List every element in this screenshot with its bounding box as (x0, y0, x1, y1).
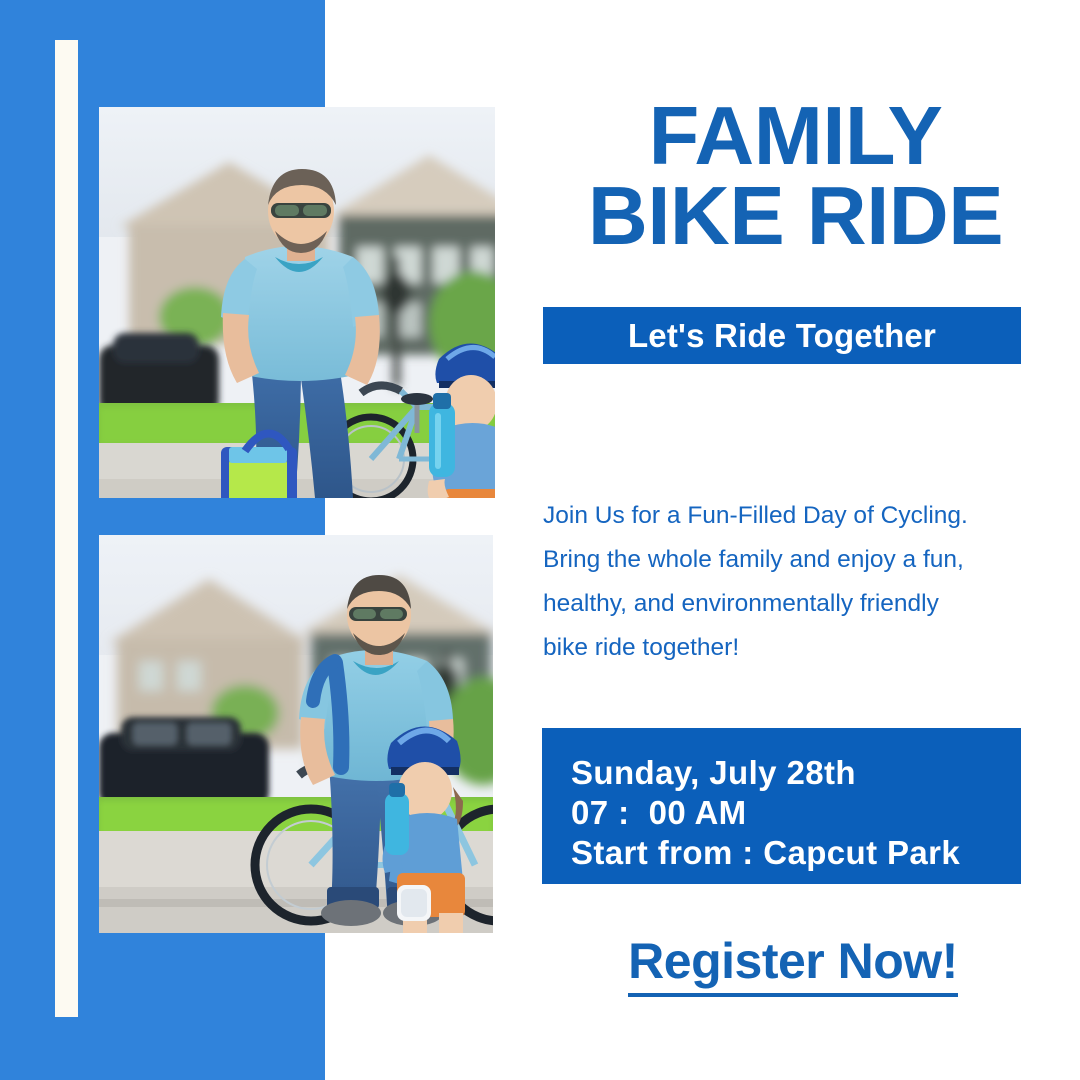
tagline-text: Let's Ride Together (628, 317, 936, 355)
photo-father-and-child-with-bike (99, 107, 495, 498)
tagline-banner: Let's Ride Together (543, 307, 1021, 364)
page-title: FAMILY BIKE RIDE (543, 96, 1048, 255)
photo-2-illustration (99, 535, 493, 933)
cream-accent-stripe (55, 40, 78, 1017)
content-column: FAMILY BIKE RIDE Let's Ride Together Joi… (524, 0, 1080, 1080)
description-line-3: healthy, and environmentally friendly (543, 582, 1043, 626)
event-date: Sunday, July 28th (571, 753, 1011, 793)
description-line-2: Bring the whole family and enjoy a fun, (543, 538, 1043, 582)
event-time: 07 : 00 AM (571, 793, 1011, 833)
event-details-box: Sunday, July 28th 07 : 00 AM Start from … (542, 728, 1021, 884)
description-line-1: Join Us for a Fun-Filled Day of Cycling. (543, 494, 1043, 538)
headline-line-2: BIKE RIDE (543, 176, 1048, 256)
photo-1-illustration (99, 107, 495, 498)
event-location: Start from : Capcut Park (571, 833, 1011, 873)
description-text: Join Us for a Fun-Filled Day of Cycling.… (543, 494, 1043, 670)
register-cta[interactable]: Register Now! (543, 932, 1043, 997)
description-line-4: bike ride together! (543, 626, 1043, 670)
photo-father-and-child-hugging (99, 535, 493, 933)
poster-canvas: FAMILY BIKE RIDE Let's Ride Together Joi… (0, 0, 1080, 1080)
register-now-link[interactable]: Register Now! (628, 932, 958, 997)
headline-line-1: FAMILY (543, 96, 1048, 176)
